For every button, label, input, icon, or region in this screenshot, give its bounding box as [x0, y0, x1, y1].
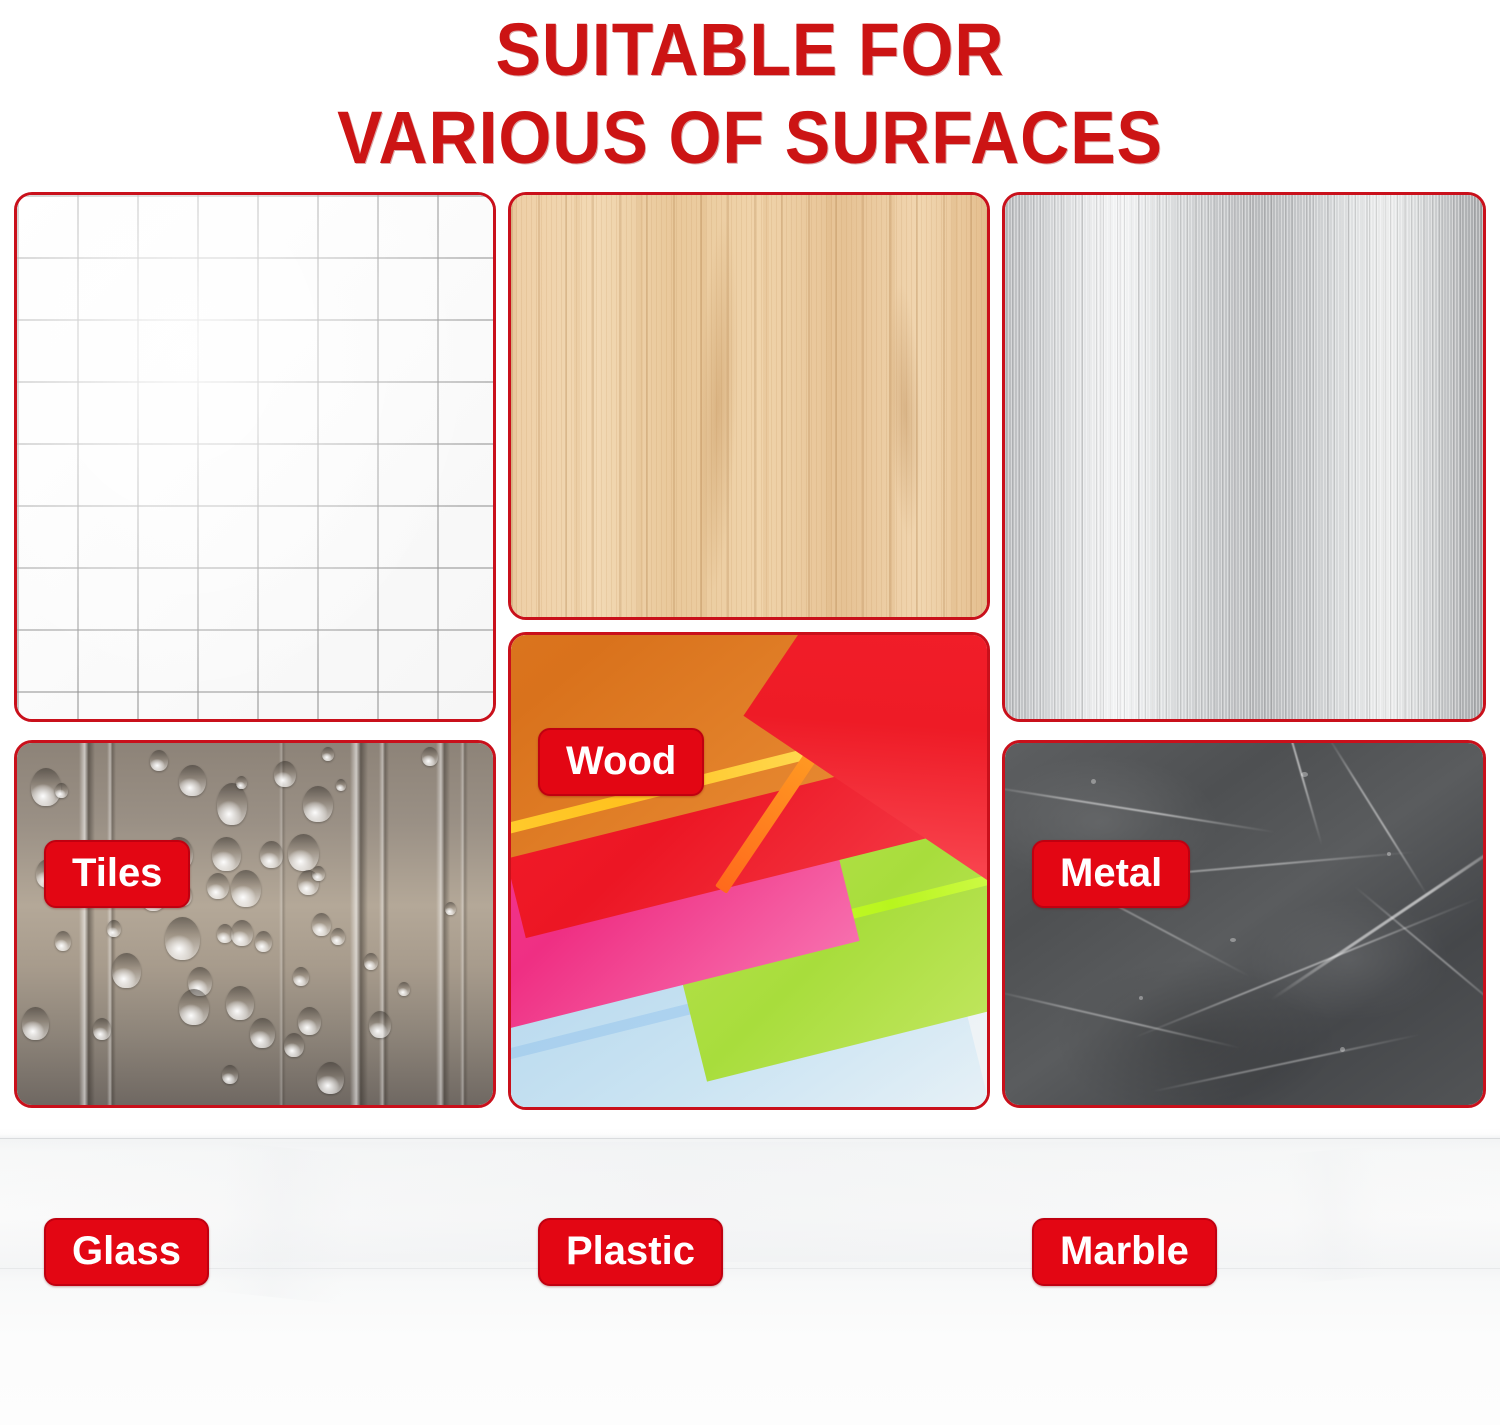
tiles-texture — [17, 195, 493, 719]
plastic-texture — [511, 635, 987, 1107]
headline-line-1: SUITABLE FOR — [60, 6, 1440, 94]
surface-panel-wood — [508, 192, 990, 620]
surface-badge-tiles[interactable]: Tiles — [44, 840, 190, 908]
surface-panel-marble — [1002, 740, 1486, 1108]
marble-texture — [1005, 743, 1483, 1105]
water-droplets — [17, 743, 493, 1105]
wood-texture — [511, 195, 987, 617]
surface-panel-glass — [14, 740, 496, 1108]
surface-panel-metal — [1002, 192, 1486, 722]
surfaces-grid: Tiles Wood Metal Glass Plastic Marble — [0, 192, 1500, 1112]
metal-texture — [1005, 195, 1483, 719]
surface-badge-glass[interactable]: Glass — [44, 1218, 209, 1286]
page-title: SUITABLE FOR VARIOUS OF SURFACES — [0, 0, 1500, 182]
surface-panel-tiles — [14, 192, 496, 722]
surface-badge-wood[interactable]: Wood — [538, 728, 704, 796]
counter-surface — [0, 1128, 1500, 1425]
headline-line-2: VARIOUS OF SURFACES — [60, 94, 1440, 182]
surface-badge-metal[interactable]: Metal — [1032, 840, 1190, 908]
surface-badge-plastic[interactable]: Plastic — [538, 1218, 723, 1286]
surface-badge-marble[interactable]: Marble — [1032, 1218, 1217, 1286]
surface-panel-plastic — [508, 632, 990, 1110]
